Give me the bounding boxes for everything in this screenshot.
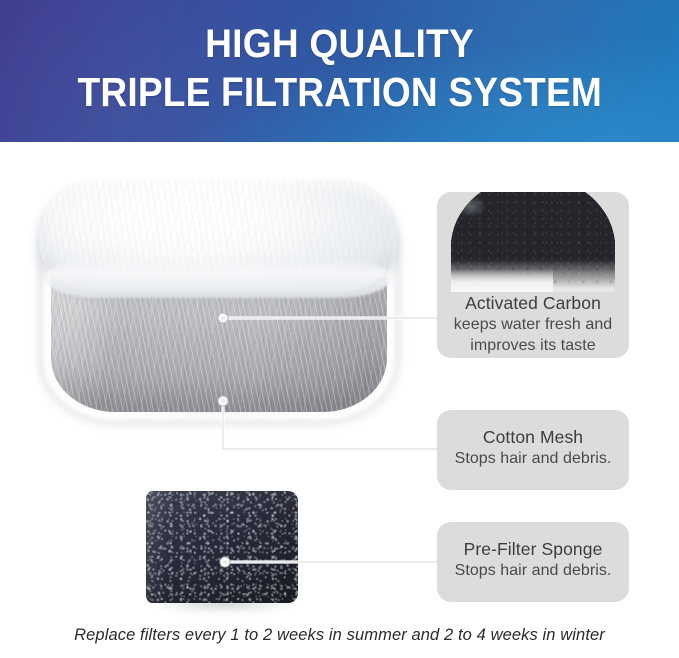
callout-card-cotton-mesh: Cotton Mesh Stops hair and debris.	[437, 410, 629, 490]
callout-text-activated-carbon: Activated Carbon keeps water fresh and i…	[437, 292, 629, 357]
callout-subline-1: Stops hair and debris.	[447, 449, 619, 470]
callout-title: Activated Carbon	[447, 292, 619, 315]
header-banner-content: HIGH QUALITY TRIPLE FILTRATION SYSTEM	[0, 0, 679, 142]
callout-text-cotton-mesh: Cotton Mesh Stops hair and debris.	[437, 426, 629, 470]
callout-title: Cotton Mesh	[447, 426, 619, 449]
activated-carbon-photo	[437, 192, 629, 292]
infographic-page: HIGH QUALITY TRIPLE FILTRATION SYSTEM	[0, 0, 679, 658]
headline-line-1: HIGH QUALITY	[205, 24, 474, 64]
headline-line-2: TRIPLE FILTRATION SYSTEM	[77, 72, 601, 113]
sponge-pore-texture-fine	[146, 491, 298, 603]
callout-subline-1: keeps water fresh and	[447, 315, 619, 336]
callout-title: Pre-Filter Sponge	[447, 538, 619, 561]
callout-card-activated-carbon: Activated Carbon keeps water fresh and i…	[437, 192, 629, 358]
sponge-block	[146, 491, 298, 603]
callout-text-pre-filter-sponge: Pre-Filter Sponge Stops hair and debris.	[437, 538, 629, 582]
cartridge-lid-rim	[45, 258, 391, 298]
header-banner: HIGH QUALITY TRIPLE FILTRATION SYSTEM	[0, 0, 679, 142]
filter-cartridge-image	[33, 172, 403, 438]
callout-subline-1: Stops hair and debris.	[447, 561, 619, 582]
pre-filter-sponge-image	[140, 489, 304, 611]
carbon-photo-arch-frame	[451, 192, 615, 292]
carbon-photo-white-base	[451, 269, 553, 292]
callout-subline-2: improves its taste	[447, 336, 619, 357]
callout-card-pre-filter-sponge: Pre-Filter Sponge Stops hair and debris.	[437, 522, 629, 602]
replacement-interval-caption: Replace filters every 1 to 2 weeks in su…	[0, 626, 679, 645]
